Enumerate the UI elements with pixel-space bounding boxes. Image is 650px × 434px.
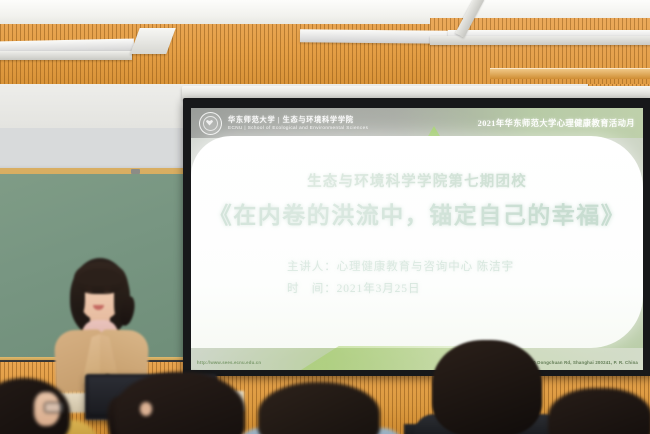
campaign-title: 2021年华东师范大学心理健康教育活动月: [478, 117, 635, 129]
slide-speaker-line: 主讲人：心理健康教育与咨询中心 陈洁宇: [287, 256, 587, 278]
chalkboard-clip: [131, 169, 140, 174]
slide-date-line: 时 间：2021年3月25日: [287, 278, 587, 300]
presenter: [48, 258, 156, 388]
ceiling-light-diffuser-left: [0, 51, 132, 60]
slide-title: 《在内卷的洪流中，锚定自己的幸福》: [191, 196, 643, 230]
presenter-bangs: [78, 269, 122, 286]
slide-content-card: [191, 136, 643, 348]
audience-member-head: [432, 340, 542, 434]
ceiling-light-fixture-center: [300, 29, 448, 44]
audience-member-head: [258, 382, 380, 434]
presenter-eyebrow-left: [85, 287, 92, 289]
slide-footer-address-en: 500 Dongchuan Rd, Shanghai 200241, P. R.…: [528, 360, 638, 365]
slide-brand-row: 华东师范大学 | 生态与环境科学学院 ECNU | School of Ecol…: [199, 112, 368, 135]
audience-member-ear: [140, 402, 152, 416]
presenter-eyebrow-right: [104, 287, 111, 289]
brand-name-cn: 华东师范大学 | 生态与环境科学学院: [228, 116, 368, 125]
wood-trim-ledge: [490, 68, 650, 79]
ecnu-seal-icon: [199, 112, 222, 135]
brand-name-en: ECNU | School of Ecological and Environm…: [228, 125, 368, 131]
audience-member-head: [548, 388, 650, 434]
slide-meta-block: 主讲人：心理健康教育与咨询中心 陈洁宇 时 间：2021年3月25日: [287, 256, 587, 301]
glasses-icon: [44, 402, 64, 413]
slide-footer-url: http://www.sees.ecnu.edu.cn: [197, 360, 261, 365]
projected-slide: 华东师范大学 | 生态与环境科学学院 ECNU | School of Ecol…: [191, 108, 643, 370]
slide-subheading: 生态与环境科学学院第七期团校: [191, 170, 643, 191]
lecture-hall-screenshot: 华东师范大学 | 生态与环境科学学院 ECNU | School of Ecol…: [0, 0, 650, 434]
